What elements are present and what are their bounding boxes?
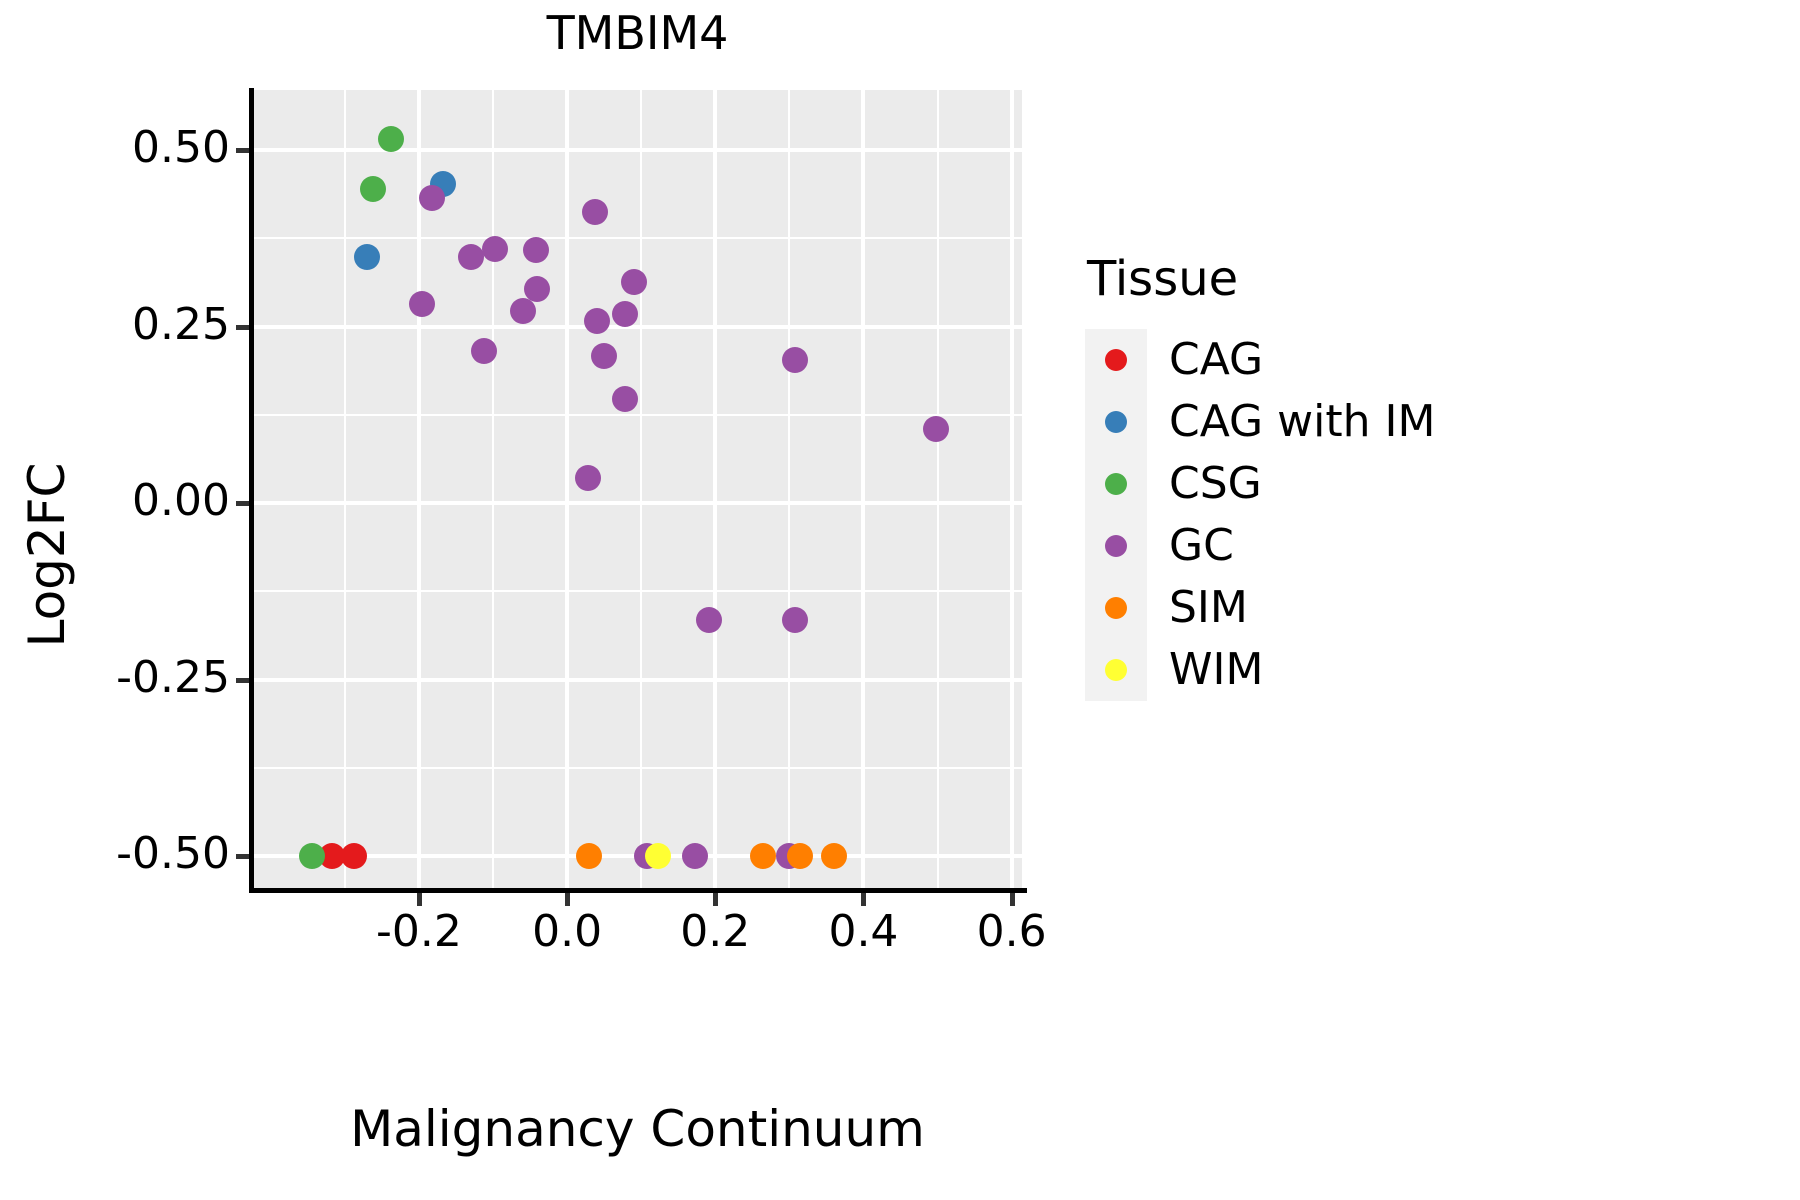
data-point-gc [682, 843, 708, 869]
legend-dot-icon [1105, 411, 1127, 433]
y-tick-label: 0.25 [80, 303, 230, 347]
data-point-wim [645, 843, 671, 869]
legend-key-swatch [1085, 453, 1147, 515]
legend-dot-icon [1105, 349, 1127, 371]
y-axis-line [249, 88, 254, 892]
x-tick-mark [713, 893, 718, 906]
grid-line [1010, 90, 1014, 888]
data-point-gc [584, 308, 610, 334]
y-axis-title: Log2FC [18, 463, 76, 648]
data-point-gc [696, 607, 722, 633]
legend-dot-icon [1105, 597, 1127, 619]
legend-key-swatch [1085, 391, 1147, 453]
grid-line [565, 90, 569, 888]
y-tick-label: 0.00 [80, 479, 230, 523]
plot-panel [253, 90, 1022, 888]
grid-line [253, 767, 1022, 769]
data-point-cag-with-im [354, 244, 380, 270]
legend-dot-icon [1105, 659, 1127, 681]
x-tick-label: 0.2 [635, 910, 795, 954]
grid-line [492, 90, 494, 888]
data-point-sim [787, 843, 813, 869]
page-title: TMBIM4 [253, 8, 1022, 59]
legend-item-label: SIM [1169, 586, 1248, 630]
data-point-gc [591, 343, 617, 369]
x-tick-mark [417, 893, 422, 906]
legend-item-gc[interactable]: GC [1085, 515, 1435, 577]
data-point-gc [409, 291, 435, 317]
x-axis-line [249, 888, 1027, 893]
x-tick-label: 0.0 [487, 910, 647, 954]
grid-line [253, 501, 1022, 505]
legend-title: Tissue [1087, 255, 1435, 303]
data-point-gc [612, 386, 638, 412]
legend-item-sim[interactable]: SIM [1085, 577, 1435, 639]
data-point-cag [341, 843, 367, 869]
data-point-gc [482, 236, 508, 262]
grid-line [253, 237, 1022, 239]
grid-line [253, 148, 1022, 152]
y-tick-mark [236, 854, 249, 859]
legend-item-label: CAG [1169, 338, 1263, 382]
legend-item-label: CSG [1169, 462, 1262, 506]
chart-root: TMBIM4 Log2FC Malignancy Continuum 0.500… [0, 0, 1800, 1200]
data-point-gc [782, 347, 808, 373]
grid-line [788, 90, 790, 888]
x-tick-label: 0.4 [783, 910, 943, 954]
y-tick-mark [236, 148, 249, 153]
y-tick-mark [236, 678, 249, 683]
legend-item-label: GC [1169, 524, 1234, 568]
legend-item-cag-with-im[interactable]: CAG with IM [1085, 391, 1435, 453]
data-point-gc [782, 607, 808, 633]
y-tick-mark [236, 501, 249, 506]
legend: Tissue CAGCAG with IMCSGGCSIMWIM [1085, 255, 1435, 701]
legend-item-label: WIM [1169, 648, 1263, 692]
x-tick-mark [1010, 893, 1015, 906]
y-tick-mark [236, 325, 249, 330]
data-point-gc [419, 185, 445, 211]
data-point-sim [576, 843, 602, 869]
x-tick-mark [565, 893, 570, 906]
data-point-sim [750, 843, 776, 869]
data-point-gc [612, 301, 638, 327]
legend-dot-icon [1105, 473, 1127, 495]
data-point-gc [923, 416, 949, 442]
legend-key-swatch [1085, 639, 1147, 701]
legend-item-label: CAG with IM [1169, 400, 1435, 444]
grid-line [861, 90, 865, 888]
data-point-gc [575, 465, 601, 491]
grid-line [253, 414, 1022, 416]
grid-line [253, 678, 1022, 682]
legend-key-swatch [1085, 577, 1147, 639]
grid-line [253, 590, 1022, 592]
y-tick-label: -0.50 [80, 832, 230, 876]
grid-line [253, 325, 1022, 329]
y-tick-label: 0.50 [80, 126, 230, 170]
legend-item-wim[interactable]: WIM [1085, 639, 1435, 701]
data-point-csg [360, 176, 386, 202]
legend-key-swatch [1085, 515, 1147, 577]
x-tick-label: 0.6 [932, 910, 1092, 954]
legend-key-swatch [1085, 329, 1147, 391]
x-axis-title: Malignancy Continuum [253, 1100, 1022, 1158]
y-tick-label: -0.25 [80, 656, 230, 700]
data-point-sim [821, 843, 847, 869]
legend-dot-icon [1105, 535, 1127, 557]
legend-item-csg[interactable]: CSG [1085, 453, 1435, 515]
grid-line [713, 90, 717, 888]
legend-entries: CAGCAG with IMCSGGCSIMWIM [1085, 329, 1435, 701]
data-point-gc [523, 237, 549, 263]
data-point-gc [582, 199, 608, 225]
x-tick-label: -0.2 [339, 910, 499, 954]
legend-item-cag[interactable]: CAG [1085, 329, 1435, 391]
x-tick-mark [861, 893, 866, 906]
data-point-gc [621, 269, 647, 295]
grid-line [344, 90, 346, 888]
grid-line [640, 90, 642, 888]
data-point-csg [299, 843, 325, 869]
grid-line [937, 90, 939, 888]
data-point-gc [510, 298, 536, 324]
data-point-gc [458, 244, 484, 270]
grid-line [417, 90, 421, 888]
